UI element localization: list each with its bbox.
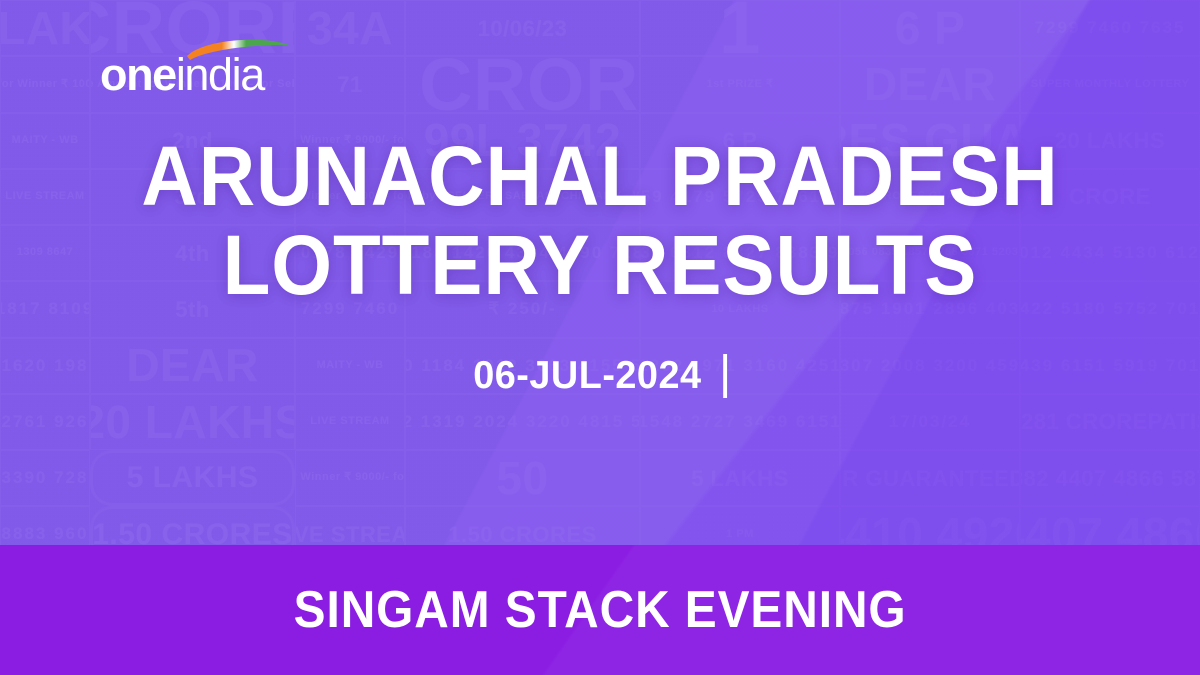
draw-name-band: SINGAM STACK EVENING: [0, 545, 1200, 675]
logo-india-text: india: [176, 49, 264, 100]
bg-tile: for Winner ₹ 9000/- for 1: [295, 450, 405, 506]
bg-tile: Cash Prize Amount for Winner ₹ 1000/- fo…: [0, 56, 90, 112]
bg-tile: 0000 1005 1091 2882 4407 4866 5871 6858 …: [1020, 450, 1200, 506]
bg-tile: 0761 1548 2727 3469 6151 5919: [640, 394, 840, 450]
oneindia-wordmark: oneindia: [100, 52, 264, 97]
bg-tile: 50: [405, 450, 640, 506]
bg-tile: DEAR: [840, 56, 1020, 112]
bg-tile: LIVE STREAM: [295, 394, 405, 450]
bg-tile: 17/03/24: [840, 394, 1020, 450]
lottery-result-banner: 50 LAKHS CRORE 34A 10/06/23 1 6 P 7299 7…: [0, 0, 1200, 675]
logo-one-text: one: [100, 49, 176, 100]
oneindia-logo[interactable]: oneindia: [100, 36, 300, 98]
page-title-line-2: LOTTERY RESULTS: [42, 221, 1158, 310]
bg-tile: 34A: [295, 0, 405, 56]
bg-tile: 10/06/23: [405, 0, 640, 56]
bg-tile: 1: [640, 0, 840, 56]
bg-tile: 50 LAKHS: [0, 0, 90, 56]
bg-tile: 3390 728: [0, 450, 90, 506]
bg-tile: 1st PRIZE ₹: [640, 56, 840, 112]
result-date-row: 06-JUL-2024: [18, 354, 1182, 398]
bg-tile: 71: [295, 56, 405, 112]
bg-tile: 1 CRORE: [405, 56, 640, 112]
bg-tile: 6 P: [840, 0, 1020, 56]
page-title-line-1: ARUNACHAL PRADESH: [42, 132, 1158, 221]
bg-tile: 7299 7460 7635: [1020, 0, 1200, 56]
bg-tile: SUPER MONTHLY LOTTERY: [1020, 56, 1200, 112]
bg-tile: 20 LAKHS: [90, 394, 295, 450]
date-separator-icon: [723, 354, 727, 398]
bg-tile: 5 LAKHS: [640, 450, 840, 506]
bg-tile: DEAR GUARANTEED 15-: [840, 450, 1020, 506]
bg-tile: 2761 926: [0, 394, 90, 450]
result-date: 06-JUL-2024: [473, 354, 701, 398]
draw-name-label: SINGAM STACK EVENING: [294, 580, 907, 640]
bg-tile: 5 LAKHS: [90, 450, 295, 506]
headline-block: ARUNACHAL PRADESH LOTTERY RESULTS 06-JUL…: [0, 132, 1200, 398]
bg-tile: 2281 CROREPATIS: [1020, 394, 1200, 450]
bg-tile: 0582 1319 2024 3220 4815 5477: [405, 394, 640, 450]
